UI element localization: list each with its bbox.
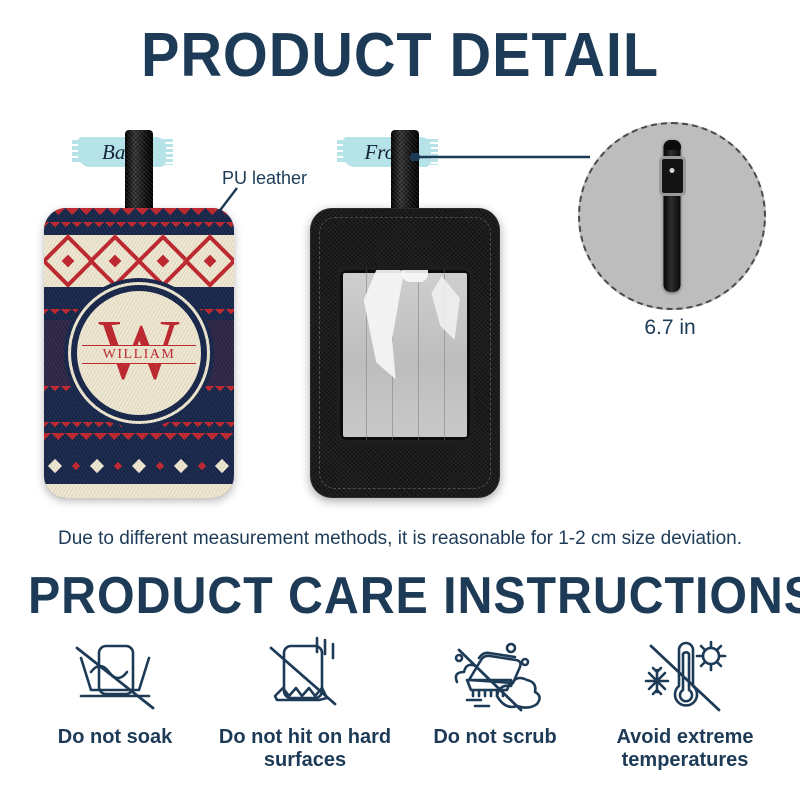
- strap-tip: [664, 140, 681, 150]
- care-section-title: PRODUCT CARE INSTRUCTIONS: [28, 568, 772, 624]
- care-item-no-extreme-temperature: Avoid extreme temperatures: [596, 632, 774, 772]
- care-label: Do not soak: [58, 726, 172, 749]
- care-item-no-impact: Do not hit on hard surfaces: [216, 632, 394, 772]
- no-scrub-icon: [445, 632, 545, 720]
- tag-back-body: W WILLIAM: [44, 208, 234, 498]
- pattern-band-diamond-row: [44, 456, 234, 476]
- diamond-motif: [156, 462, 164, 470]
- product-detail-page: PRODUCT DETAIL Back Front PU leather: [0, 0, 800, 800]
- luggage-tag-front: [310, 208, 500, 498]
- diamond-motif: [48, 459, 62, 473]
- pattern-band-trees: [44, 422, 234, 433]
- no-soak-icon: [65, 632, 165, 720]
- strap-buckle: [659, 156, 686, 196]
- strap-photo: [664, 140, 681, 292]
- no-extreme-temperature-icon: [635, 632, 735, 720]
- care-label: Avoid extreme temperatures: [596, 726, 774, 772]
- care-item-no-scrub: Do not scrub: [406, 632, 584, 749]
- pattern-band-zigzag-top: [44, 208, 234, 222]
- strap-detail-circle: [578, 122, 766, 310]
- diamond-motif: [72, 462, 80, 470]
- window-glare: [362, 270, 404, 384]
- care-item-no-soak: Do not soak: [26, 632, 204, 749]
- window-glare: [426, 276, 460, 362]
- monogram-medallion: W WILLIAM: [71, 285, 207, 421]
- no-impact-icon: [255, 632, 355, 720]
- diamond-motif: [90, 459, 104, 473]
- size-deviation-note: Due to different measurement methods, it…: [0, 528, 800, 550]
- page-title: PRODUCT DETAIL: [28, 24, 772, 88]
- diamond-motif: [132, 459, 146, 473]
- diamond-motif: [114, 462, 122, 470]
- diamond-motif: [197, 462, 205, 470]
- care-label: Do not hit on hard surfaces: [216, 726, 394, 772]
- id-card-window: [340, 270, 470, 440]
- diamond-motif: [215, 459, 229, 473]
- label-back: Back: [78, 133, 168, 171]
- aztec-diamond: [88, 234, 142, 288]
- window-glare: [402, 270, 428, 282]
- care-instructions-row: Do not soak Do not hit on hard surfaces: [0, 632, 800, 772]
- diamond-motif: [174, 459, 188, 473]
- monogram-name: WILLIAM: [103, 347, 176, 363]
- label-front: Front: [343, 133, 433, 171]
- aztec-diamond: [44, 234, 95, 288]
- aztec-diamond: [136, 234, 190, 288]
- pattern-band-zigzag-bottom: [44, 433, 234, 447]
- pattern-band-cream-bottom: [44, 484, 234, 498]
- label-back-text: Back: [78, 133, 168, 171]
- care-label: Do not scrub: [433, 726, 556, 749]
- label-front-text: Front: [343, 133, 433, 171]
- tag-front-body: [310, 208, 500, 498]
- pattern-band-triangles-top: [44, 222, 234, 233]
- strap-callout-line: [410, 153, 590, 161]
- aztec-diamond: [183, 234, 234, 288]
- pattern-band-cream-diamonds-top: [44, 235, 234, 287]
- luggage-tag-back: W WILLIAM: [44, 208, 234, 498]
- monogram-name-band: WILLIAM: [82, 345, 196, 364]
- label-strap-length: 6.7 in: [578, 316, 762, 340]
